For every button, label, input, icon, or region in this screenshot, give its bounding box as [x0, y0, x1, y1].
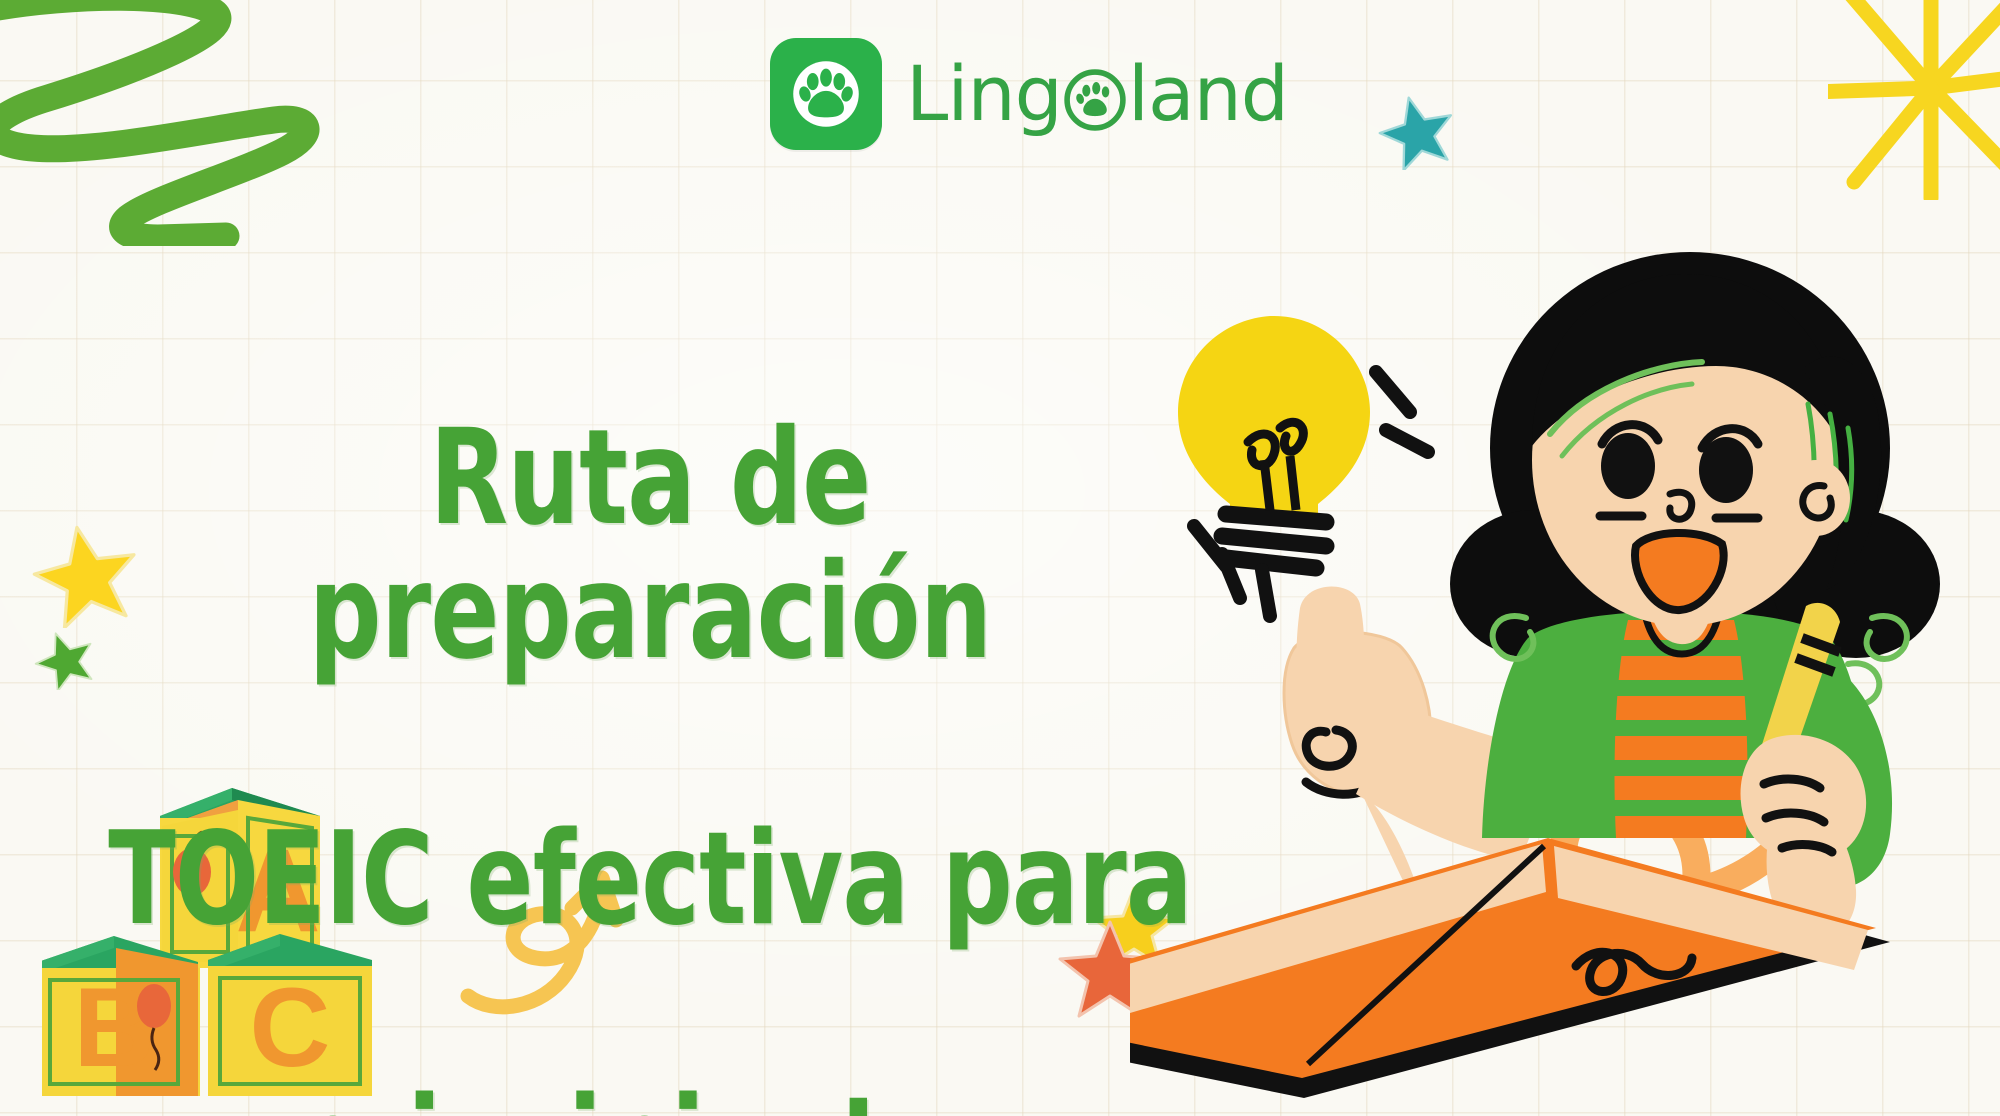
- wordmark-prefix: Ling: [906, 56, 1062, 132]
- green-star-icon: [34, 628, 96, 690]
- open-book-icon: [1130, 838, 1890, 1098]
- paw-print-icon: [787, 55, 865, 133]
- green-scribble-icon: [0, 0, 342, 246]
- page-title: Ruta de preparación TOEIC efectiva para …: [91, 276, 1209, 1116]
- app-logo-mark[interactable]: [770, 38, 882, 150]
- hair-curl-icon: [1493, 616, 1907, 705]
- forearm-shape: [1767, 786, 1857, 939]
- sparkle-lines-icon: [1194, 372, 1428, 616]
- brand-lockup[interactable]: Ling land: [770, 38, 1288, 150]
- arm-shape: [1356, 704, 1560, 862]
- pencil-icon: [1748, 603, 1840, 800]
- shirt-shape: [1482, 588, 1870, 838]
- head-shape: [1532, 274, 1881, 626]
- eye-left: [1601, 433, 1655, 499]
- sleeve-shape: [1785, 664, 1892, 888]
- pointing-hand-icon: [1284, 586, 1431, 938]
- poster-canvas: A B C: [0, 0, 2000, 1116]
- girl-studying-illustration: [1130, 198, 2000, 1116]
- headline-line-1: Ruta de preparación: [91, 411, 1209, 680]
- headline-line-2: TOEIC efectiva para: [91, 815, 1209, 946]
- headline-line-3: principiantes: [91, 1080, 1209, 1116]
- yellow-starburst-icon: [1828, 0, 2000, 200]
- eye-right: [1699, 437, 1753, 503]
- wordmark-suffix: land: [1128, 56, 1288, 132]
- hair-back-shape: [1450, 252, 1940, 658]
- paw-print-o-icon: [1064, 69, 1126, 131]
- brand-wordmark: Ling land: [906, 56, 1288, 132]
- teal-star-icon: [1378, 92, 1456, 170]
- writing-hand-icon: [1741, 735, 1867, 862]
- orange-swirl-icon: [1564, 627, 1831, 968]
